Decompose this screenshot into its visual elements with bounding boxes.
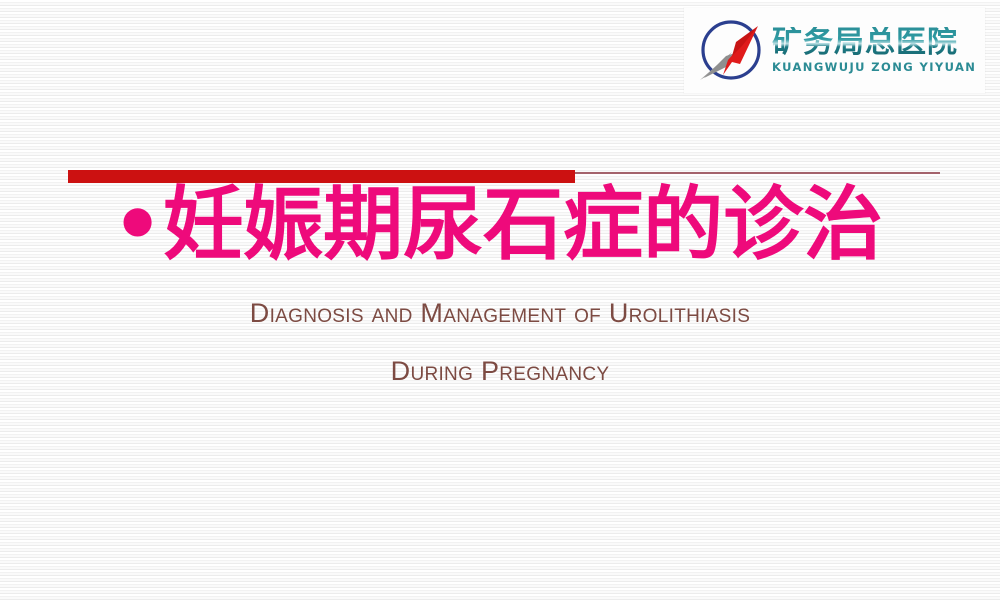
page-title: •妊娠期尿石症的诊治 [112, 182, 972, 268]
slide-canvas: 矿务局总医院 KUANGWUJU ZONG YIYUAN •妊娠期尿石症的诊治 … [0, 0, 1000, 600]
subtitle-line-2: During Pregnancy [0, 356, 1000, 387]
subtitle-line-1: Diagnosis and Management of Urolithiasis [0, 298, 1000, 329]
hospital-logo-wordmark: 矿务局总医院 KUANGWUJU ZONG YIYUAN [772, 27, 976, 74]
hospital-logo: 矿务局总医院 KUANGWUJU ZONG YIYUAN [684, 8, 985, 93]
hospital-logo-mark-icon [692, 12, 770, 90]
hospital-name-pinyin: KUANGWUJU ZONG YIYUAN [772, 60, 976, 74]
hospital-name-cn: 矿务局总医院 [772, 27, 976, 59]
title-divider-tail [575, 172, 940, 174]
